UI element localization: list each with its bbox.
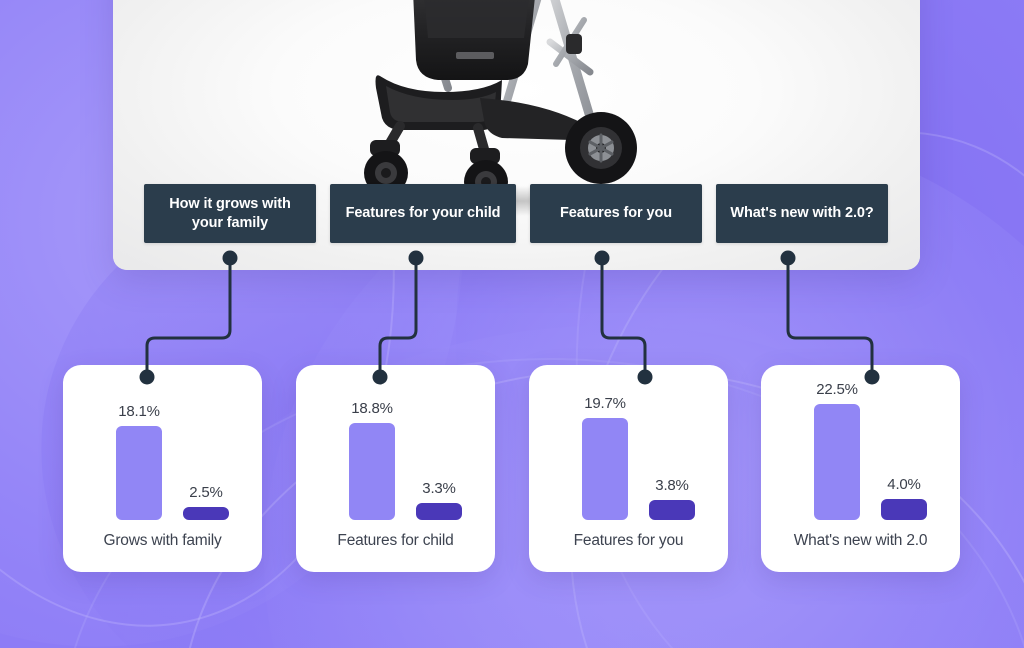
bar-secondary <box>649 500 695 520</box>
bar-group-primary: 18.8% <box>341 400 403 520</box>
bar-value-primary: 18.8% <box>351 400 393 417</box>
chart-card-features-for-child[interactable]: 18.8% 3.3% Features for child <box>296 365 495 572</box>
bar-group-secondary: 4.0% <box>873 476 935 520</box>
bar-primary <box>116 426 162 520</box>
bar-group-primary: 22.5% <box>806 381 868 520</box>
bar-value-secondary: 4.0% <box>887 476 920 493</box>
tab-whats-new[interactable]: What's new with 2.0? <box>716 184 888 243</box>
bar-value-primary: 19.7% <box>584 395 626 412</box>
bar-primary <box>814 404 860 520</box>
card-label: What's new with 2.0 <box>761 532 960 550</box>
bar-plot: 19.7% 3.8% <box>529 395 728 520</box>
bar-group-secondary: 3.8% <box>641 477 703 520</box>
card-label: Grows with family <box>63 532 262 550</box>
bar-group-primary: 18.1% <box>108 403 170 520</box>
bar-group-secondary: 3.3% <box>408 480 470 520</box>
tab-how-it-grows[interactable]: How it grows with your family <box>144 184 316 243</box>
chart-card-grows-with-family[interactable]: 18.1% 2.5% Grows with family <box>63 365 262 572</box>
chart-card-whats-new-2-0[interactable]: 22.5% 4.0% What's new with 2.0 <box>761 365 960 572</box>
bar-plot: 18.1% 2.5% <box>63 395 262 520</box>
bar-value-secondary: 3.3% <box>422 480 455 497</box>
bar-primary <box>349 423 395 520</box>
bar-value-primary: 22.5% <box>816 381 858 398</box>
bar-plot: 22.5% 4.0% <box>761 395 960 520</box>
bar-secondary <box>881 499 927 520</box>
bar-group-primary: 19.7% <box>574 395 636 520</box>
tab-features-you[interactable]: Features for you <box>530 184 702 243</box>
bar-plot: 18.8% 3.3% <box>296 395 495 520</box>
bar-group-secondary: 2.5% <box>175 484 237 520</box>
tab-features-child[interactable]: Features for your child <box>330 184 516 243</box>
bar-primary <box>582 418 628 520</box>
chart-card-features-for-you[interactable]: 19.7% 3.8% Features for you <box>529 365 728 572</box>
bar-value-secondary: 3.8% <box>655 477 688 494</box>
bar-secondary <box>416 503 462 520</box>
bar-value-secondary: 2.5% <box>189 484 222 501</box>
infographic-stage: How it grows with your family Features f… <box>0 0 1024 648</box>
card-label: Features for child <box>296 532 495 550</box>
bar-secondary <box>183 507 229 520</box>
tab-row: How it grows with your family Features f… <box>144 184 888 243</box>
bar-value-primary: 18.1% <box>118 403 160 420</box>
card-label: Features for you <box>529 532 728 550</box>
